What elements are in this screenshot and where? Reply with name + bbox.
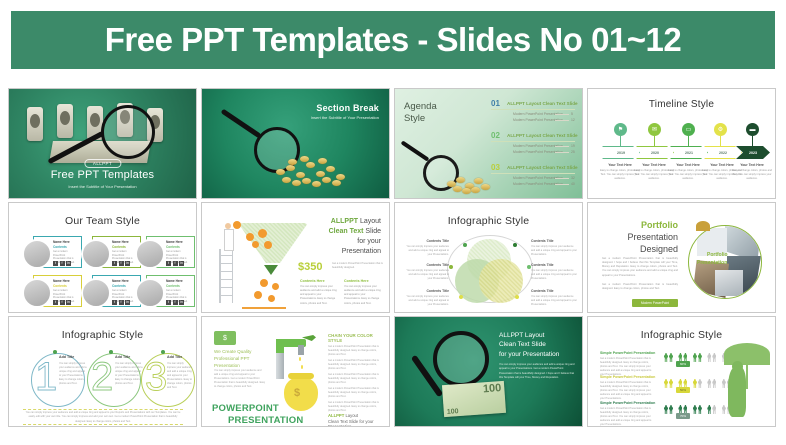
slide-11-line2: Clean Text Slide (499, 340, 575, 349)
avatar (22, 239, 52, 269)
slide-thumbnail-2[interactable]: Section Break Insert the Subtitle of You… (201, 88, 390, 199)
avatar (81, 278, 111, 308)
agenda-number: 01 (491, 99, 500, 108)
team-name: Name Here (166, 279, 183, 283)
venn-dot (463, 243, 467, 247)
portfolio-body-1: Get a modern PowerPoint Presentation tha… (602, 257, 678, 278)
portfolio-collage: Portfolio Presentation (688, 225, 762, 299)
slide-12-title: Infographic Style (588, 329, 775, 341)
person-icon (224, 229, 234, 251)
social-links[interactable]: tfin (112, 300, 130, 305)
pictogram-head: Simple PowerPoint Presentation (600, 351, 656, 355)
venn-label: Contents Title (531, 239, 575, 243)
team-card[interactable]: Name Here Contents Get a modern PowerPoi… (33, 236, 82, 268)
agenda-number: 02 (491, 131, 500, 140)
timeline-year: 2022 (704, 146, 742, 159)
team-name: Name Here (53, 279, 70, 283)
number-body: You can simply impress your audience and… (167, 362, 193, 390)
team-card[interactable]: Name Here Contents Get a modern PowerPoi… (146, 236, 195, 268)
timeline-year: 2019 (602, 146, 640, 159)
venn-label: Contents Title (409, 239, 449, 243)
magnifier-icon (433, 331, 489, 387)
team-role: Contents (112, 245, 126, 249)
bullet-dot (109, 350, 113, 354)
venn-text: You can simply impress your audience and… (405, 295, 449, 307)
price-note: Get a modern PowerPoint Presentation tha… (332, 262, 384, 270)
number-head: Add Title (115, 355, 130, 359)
team-card[interactable]: Name Here Contents Get a modern PowerPoi… (146, 275, 195, 307)
number-head: Add Title (167, 355, 182, 359)
pictogram-percent-1: 60% (676, 361, 690, 367)
venn-label: Contents Title (409, 263, 449, 267)
slide-2-subtitle: Insert the Subtitle of Your Presentation (311, 115, 379, 120)
euro-value: 100 (483, 382, 502, 395)
slide-thumbnail-11[interactable]: 100 100 ALLPPT Layout Clean Text Slide f… (394, 316, 583, 427)
venn-text: You can simply impress your audience and… (531, 269, 577, 281)
venn-dot (515, 295, 519, 299)
social-links[interactable]: tfin (166, 261, 184, 266)
slide-thumbnail-12[interactable]: Infographic Style Simple PowerPoint Pres… (587, 316, 776, 427)
heading-line3: for your (357, 238, 381, 245)
magnifier-icon (101, 105, 155, 159)
dollar-roll-icon (57, 104, 73, 138)
euro-note-icon: 100 100 (442, 381, 506, 417)
slide-7-title: Infographic Style (395, 215, 582, 227)
slide-3-title-line2: Style (404, 113, 425, 124)
agenda-page: 25 (571, 150, 575, 154)
column-body: You can simply impress your audience and… (344, 285, 382, 306)
agenda-number: 03 (491, 163, 500, 172)
venn-text: You can simply impress your audience and… (405, 245, 449, 257)
pictogram-percent-3: 70% (676, 413, 690, 419)
bullet-item: Get a modern PowerPoint Presentation tha… (328, 345, 384, 357)
bullet-item: Get a modern PowerPoint Presentation tha… (328, 387, 384, 399)
pictogram-body: Get a modern PowerPoint Presentation tha… (600, 381, 656, 401)
team-name: Name Here (53, 240, 70, 244)
slide-thumbnail-7[interactable]: Infographic Style Contents Title You can… (394, 202, 583, 313)
slide-thumbnail-1[interactable]: ALLPPT Free PPT Templates Insert the Sub… (8, 88, 197, 199)
agenda-page: 12 (571, 118, 575, 122)
slide-thumbnail-8[interactable]: Portfolio Presentation Designed Get a mo… (587, 202, 776, 313)
agenda-page: 5 (571, 112, 573, 116)
dollar-roll-icon (27, 107, 43, 141)
venn-text: You can simply impress your audience and… (531, 295, 577, 307)
number-2: 2 (91, 357, 113, 397)
slide-thumbnail-5[interactable]: Our Team Style Name Here Contents Get a … (8, 202, 197, 313)
slide-10-foot-green: ALLPPT (328, 413, 344, 418)
portfolio-body-2: Get a modern PowerPoint Presentation tha… (602, 283, 678, 291)
pictogram-body: Get a modern PowerPoint Presentation tha… (600, 407, 656, 427)
slide-10-bullets: Get a modern PowerPoint Presentation tha… (328, 345, 384, 415)
timeline-caption: Your Text Here (734, 163, 770, 167)
team-card[interactable]: Name Here Contents Get a modern PowerPoi… (33, 275, 82, 307)
social-links[interactable]: tfin (53, 300, 71, 305)
slide-3-title: Agenda (404, 101, 437, 112)
gear-icon: ⚙ (714, 123, 727, 136)
slide-9-footer: You can simply impress your audience and… (25, 411, 181, 424)
number-1: 1 (35, 357, 57, 397)
slide-10-foot-rest: Layout (344, 413, 358, 418)
team-card[interactable]: Name Here Contents Get a modern PowerPoi… (92, 275, 141, 307)
slide-4-title: Timeline Style (588, 99, 775, 110)
collage-label-1: Portfolio (707, 252, 728, 258)
timeline-caption: Your Text Here (670, 163, 706, 167)
slide-8-title: Portfolio Presentation Designed (602, 219, 678, 255)
slide-1-subtitle: Insert the Subtitle of Your Presentation (9, 184, 196, 189)
slide-10-right-head: CHAIN YOUR COLOR STYLE (328, 333, 384, 343)
gold-coins-group (274, 147, 354, 189)
slides-grid: ALLPPT Free PPT Templates Insert the Sub… (8, 88, 780, 430)
heading-green: ALLPPT (331, 218, 358, 225)
venn-dot (449, 265, 453, 269)
slide-thumbnail-3[interactable]: Agenda Style 01 ALLPPT Layout Clean Text… (394, 88, 583, 199)
venn-text: You can simply impress your audience and… (531, 245, 577, 257)
agenda-head: ALLPPT Layout Clean Text Slide (507, 165, 578, 170)
number-3: 3 (145, 357, 167, 397)
slide-10-big-1: POWERPOINT (212, 403, 279, 414)
euro-value-2: 100 (447, 408, 459, 416)
gold-coins-group (447, 171, 493, 193)
price-value: $350 (298, 261, 322, 273)
slide-thumbnail-10[interactable]: $ We Create Quality Professional PPT Pre… (201, 316, 390, 427)
slide-10-foot-line2: Clean Text Slide for your Presentation (328, 419, 384, 427)
timeline-year: 2020 (636, 146, 674, 159)
slide-10-head: We Create Quality Professional PPT Prese… (214, 349, 266, 370)
team-name: Name Here (166, 240, 183, 244)
number-body: You can simply impress your audience and… (59, 362, 87, 386)
social-links[interactable]: tfin (112, 261, 130, 266)
number-head: Add Title (59, 355, 74, 359)
page-title: Free PPT Templates - Slides No 01~12 (105, 21, 682, 59)
slide-1-title: Free PPT Templates (9, 169, 196, 181)
team-role: Contents (53, 284, 67, 288)
slide-9-title: Infographic Style (9, 329, 196, 341)
team-role: Contents (166, 284, 180, 288)
money-bag-icon (284, 377, 318, 411)
venn-text: You can simply impress your audience and… (405, 269, 449, 281)
portfolio-button[interactable]: Modern PowerPoint (632, 299, 678, 307)
mail-icon: ✉ (648, 123, 661, 136)
agenda-head: ALLPPT Layout Clean Text Slide (507, 133, 578, 138)
column-body: You can simply impress your audience and… (300, 285, 338, 306)
slides-row-2: Our Team Style Name Here Contents Get a … (8, 202, 780, 313)
slides-row-1: ALLPPT Free PPT Templates Insert the Sub… (8, 88, 780, 199)
portfolio-title-green: Portfolio (602, 219, 678, 231)
timeline-year: 2021 (670, 146, 708, 159)
chat-icon: ▭ (682, 123, 695, 136)
arrow-down-icon (264, 265, 278, 275)
venn-dot (513, 243, 517, 247)
avatar (135, 278, 165, 308)
slide-6-heading: ALLPPT Layout Clean Text Slide for your … (289, 217, 381, 258)
venn-label: Contents Title (531, 263, 575, 267)
briefcase-icon: ▬ (746, 123, 759, 136)
agenda-page: 40 (571, 182, 575, 186)
ppt-template-gallery: Free PPT Templates - Slides No 01~12 ALL… (0, 0, 786, 445)
allppt-logo: ALLPPT (84, 159, 121, 168)
collage-label-2: Presentation (697, 260, 727, 266)
slide-10-body: You can simply impress your audience and… (214, 369, 266, 389)
pictogram-body: Get a modern PowerPoint Presentation tha… (600, 357, 656, 377)
bullet-item: Get a modern PowerPoint Presentation tha… (328, 401, 384, 413)
venn-dot (459, 295, 463, 299)
slide-11-line1: ALLPPT Layout (499, 331, 575, 340)
team-name: Name Here (112, 279, 129, 283)
team-card[interactable]: Name Here Contents Get a modern PowerPoi… (92, 236, 141, 268)
timeline-caption: Your Text Here (602, 163, 638, 167)
column-head: Contents Here (344, 279, 369, 283)
number-body: You can simply impress your audience and… (115, 362, 143, 386)
team-role: Contents (112, 284, 126, 288)
bullet-item: Get a modern PowerPoint Presentation tha… (328, 359, 384, 371)
pictogram-percent-2: 50% (676, 387, 690, 393)
timeline-body: Easy to change colors, photos and Text. … (732, 169, 772, 181)
umbrella-person-icon (718, 343, 770, 419)
agenda-head: ALLPPT Layout Clean Text Slide (507, 101, 578, 106)
social-links[interactable]: tfin (166, 300, 184, 305)
avatar (135, 239, 165, 269)
team-role: Contents (53, 245, 67, 249)
slide-thumbnail-9[interactable]: Infographic Style 1 Add Title You can si… (8, 316, 197, 427)
agenda-page: 32 (571, 176, 575, 180)
heading-rest: Layout (358, 218, 381, 225)
venn-label: Contents Title (409, 289, 449, 293)
venn-label: Contents Title (531, 289, 575, 293)
timeline-caption: Your Text Here (636, 163, 672, 167)
money-icon: $ (214, 331, 236, 345)
avatar (22, 278, 52, 308)
slide-11-text: ALLPPT Layout Clean Text Slide for your … (499, 331, 575, 380)
team-name: Name Here (112, 240, 129, 244)
ladder-icon (218, 249, 234, 303)
slide-2-title: Section Break (316, 103, 379, 113)
agenda-page: 19 (571, 144, 575, 148)
team-role: Contents (166, 245, 180, 249)
slide-thumbnail-6[interactable]: ALLPPT Layout Clean Text Slide for your … (201, 202, 390, 313)
bullet-dot (53, 350, 57, 354)
slide-11-line3: for your Presentation (499, 350, 575, 359)
heading-rest-2: Slide (363, 228, 381, 235)
magnifier-small-icon (696, 221, 710, 231)
pictogram-head: Simple PowerPoint Presentation (600, 375, 656, 379)
slides-row-3: Infographic Style 1 Add Title You can si… (8, 316, 780, 427)
heading-green-2: Clean Text (329, 228, 364, 235)
pin-icon: ⚑ (614, 123, 627, 136)
portfolio-title-line3: Designed (602, 243, 678, 255)
slide-10-big-2: PRESENTATION (228, 415, 303, 426)
slide-thumbnail-4[interactable]: Timeline Style ⚑ ✉ ▭ ⚙ ▬ 2019 2020 2021 … (587, 88, 776, 199)
social-links[interactable]: tfin (53, 261, 71, 266)
page-header-banner: Free PPT Templates - Slides No 01~12 (11, 11, 775, 69)
bullet-item: Get a modern PowerPoint Presentation tha… (328, 373, 384, 385)
person-head-icon (225, 223, 231, 229)
pictogram-head: Simple PowerPoint Presentation (600, 401, 656, 405)
bullet-dot (161, 350, 165, 354)
slide-5-title: Our Team Style (9, 215, 196, 227)
portfolio-title-line2: Presentation (602, 231, 678, 243)
column-head: Contents Here (300, 279, 325, 283)
slide-11-body: You can simply impress your audience and… (499, 363, 575, 380)
heading-line4: Presentation (342, 248, 381, 255)
avatar (81, 239, 111, 269)
